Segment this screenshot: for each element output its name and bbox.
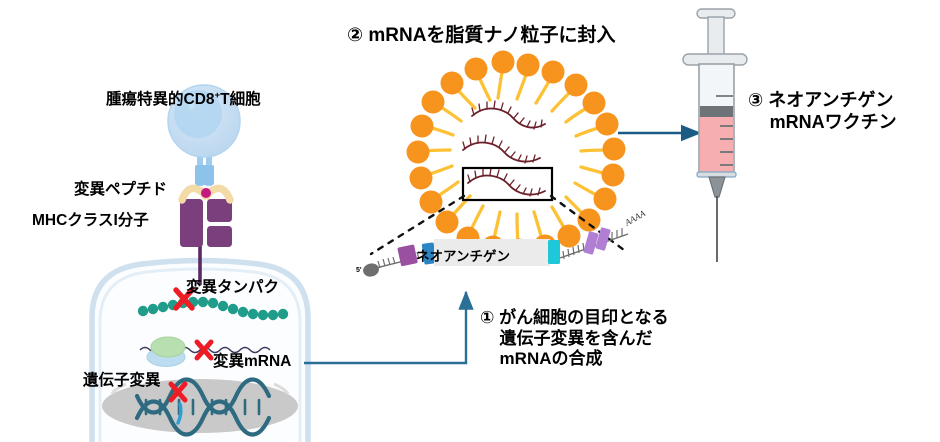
- barrel-base: [697, 172, 736, 177]
- step3-label: ③ ネオアンチゲンmRNAワクチン: [748, 90, 897, 134]
- step2-label: ② mRNAを脂質ナノ粒子に封入: [347, 24, 615, 47]
- mhc-class-i-label: MHCクラスI分子: [32, 212, 149, 231]
- mutant-peptide-dot: [201, 188, 211, 198]
- gene-mutation-label: 遺伝子変異: [83, 372, 161, 391]
- five-prime-cap: [362, 262, 381, 278]
- mutant-peptide-label: 変異ペプチド: [74, 181, 167, 200]
- stop-codon-block: [548, 240, 560, 264]
- needle-hub: [709, 177, 725, 197]
- encapsulated-mrna-icon: [463, 101, 545, 196]
- mutant-mrna-label: 変異mRNA: [213, 353, 291, 372]
- step1-label: ① がん細胞の目印となる遺伝子変異を含んだmRNAの合成: [480, 308, 669, 370]
- mrna-to-step1-connector: [304, 292, 466, 363]
- diagram-canvas: AAAA 腫瘍特異的CD8+T細胞 変異ペプ: [0, 0, 940, 442]
- five-prime-label: 5': [356, 267, 362, 276]
- lipid-nanoparticle-icon: [407, 51, 626, 262]
- poly-a-tail-label: AAAA: [622, 208, 647, 228]
- mutant-protein-label: 変異タンパク: [186, 279, 279, 298]
- mrna-construct-icon: AAAA: [362, 208, 648, 278]
- plunger-seal: [700, 106, 733, 117]
- t-cell-label: 腫瘍特異的CD8+T細胞: [106, 90, 261, 110]
- utr3-block-a: [583, 231, 599, 255]
- neoantigen-label: ネオアンチゲン: [416, 249, 510, 265]
- syringe-icon: [683, 9, 747, 262]
- utr5-block: [397, 244, 418, 266]
